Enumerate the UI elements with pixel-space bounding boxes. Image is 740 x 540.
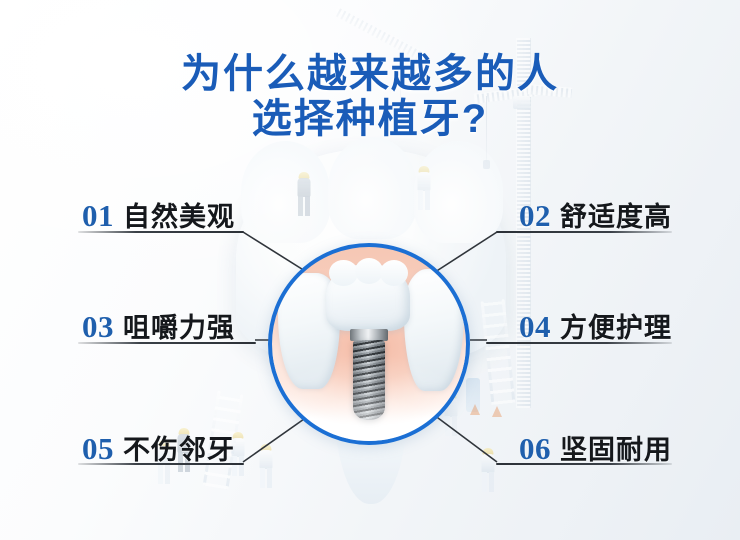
benefit-number: 03 [82,309,114,345]
benefit-number: 01 [82,198,114,234]
page-title: 为什么越来越多的人 选择种植牙? [0,52,740,142]
benefit-number: 06 [519,431,551,467]
benefit-item-03: 03 咀嚼力强 [82,306,235,345]
benefit-item-02: 02 舒适度高 [519,195,672,234]
benefit-label: 方便护理 [560,306,672,345]
illustration-highlight [272,354,466,445]
benefit-item-01: 01 自然美观 [82,195,235,234]
benefit-rule-05 [78,463,244,465]
benefit-rule-04 [486,342,672,344]
benefit-item-05: 05 不伤邻牙 [82,428,235,467]
benefit-number: 02 [519,198,551,234]
benefit-item-04: 04 方便护理 [519,306,672,345]
implant-crown [326,265,410,331]
dental-implant-infographic: 为什么越来越多的人 选择种植牙? 01 自然美观 02 舒适度高 03 咀嚼力强… [0,0,740,540]
title-line-2: 选择种植牙? [0,97,740,142]
benefit-label: 不伤邻牙 [123,428,235,467]
crown-cusp [355,258,384,284]
crown-cusp [380,260,409,286]
crown-cusp [329,260,358,286]
benefit-label: 舒适度高 [560,195,672,234]
benefit-number: 04 [519,309,551,345]
title-line-1: 为什么越来越多的人 [0,52,740,97]
benefit-label: 自然美观 [123,195,235,234]
benefit-rule-03 [78,342,256,344]
benefit-label: 咀嚼力强 [123,306,235,345]
connector-02 [432,232,497,274]
benefit-label: 坚固耐用 [560,428,672,467]
benefit-rule-02 [496,231,672,233]
dental-implant-illustration [268,243,470,445]
benefit-item-06: 06 坚固耐用 [519,428,672,467]
benefit-rule-06 [496,463,672,465]
benefit-rule-01 [78,231,244,233]
benefit-number: 05 [82,431,114,467]
